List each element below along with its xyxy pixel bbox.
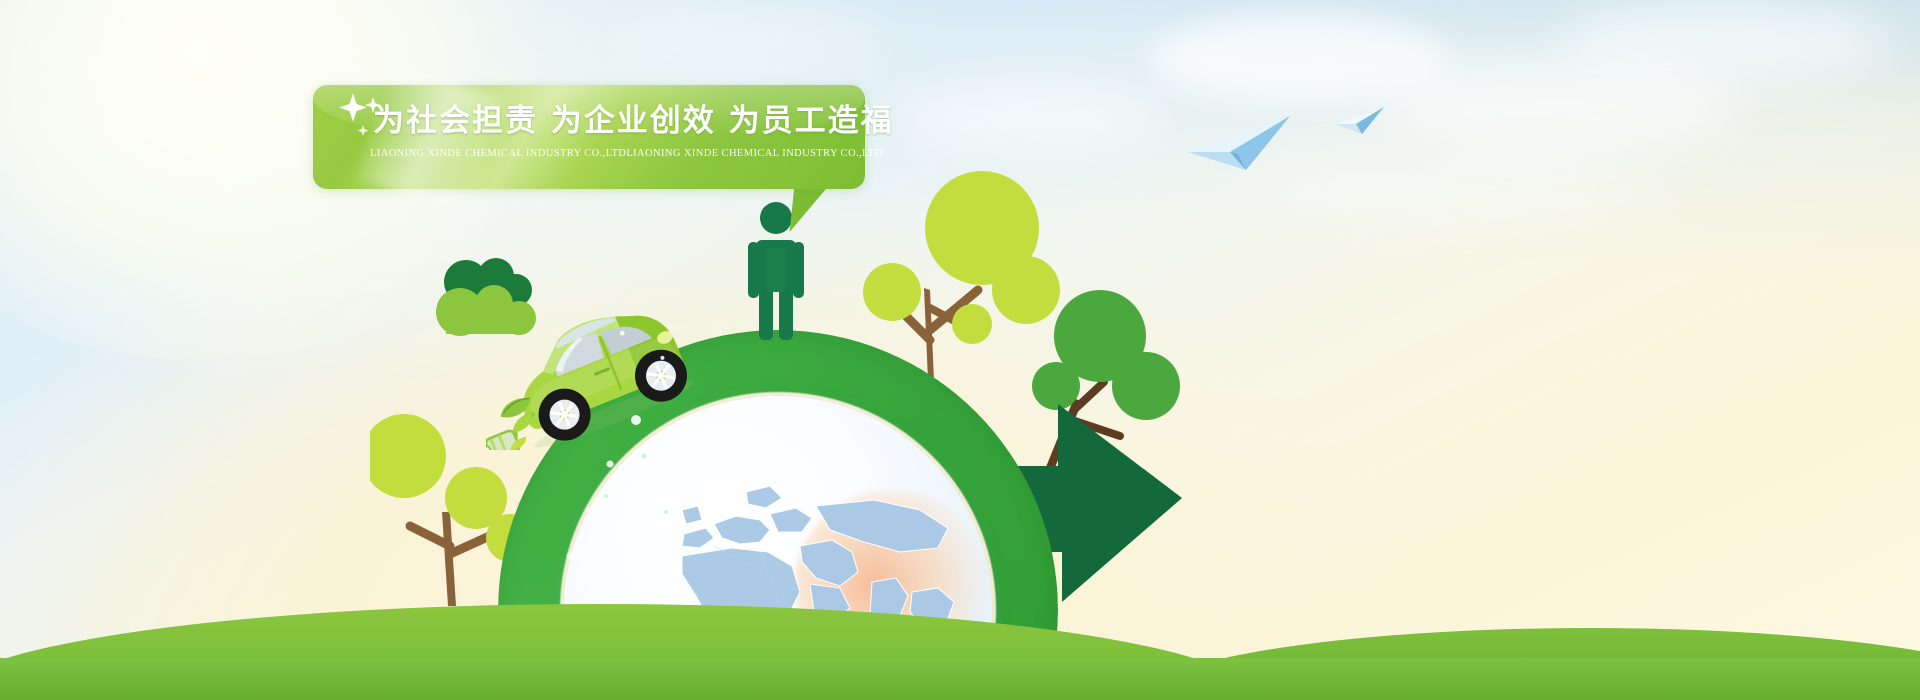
speech-bubble-tail: [790, 186, 839, 232]
banner-subtitle: LIAONING XINDE CHEMICAL INDUSTRY CO.,LTD…: [370, 148, 870, 159]
headline-banner[interactable]: 为社会担责 为企业创效 为员工造福 LIAONING XINDE CHEMICA…: [313, 85, 865, 189]
electric-car-with-plug: [486, 300, 706, 450]
cloud-3: [1560, 0, 1890, 82]
paper-plane-icon-1: [1186, 108, 1296, 176]
paper-plane-icon-2: [1334, 104, 1386, 138]
cloud-6: [620, 10, 880, 70]
banner-scene: 为社会担责 为企业创效 为员工造福 LIAONING XINDE CHEMICA…: [0, 0, 1920, 700]
banner-headline: 为社会担责 为企业创效 为员工造福: [373, 101, 843, 141]
grass-strip: [0, 658, 1920, 700]
cloud-5: [1250, 150, 1670, 224]
